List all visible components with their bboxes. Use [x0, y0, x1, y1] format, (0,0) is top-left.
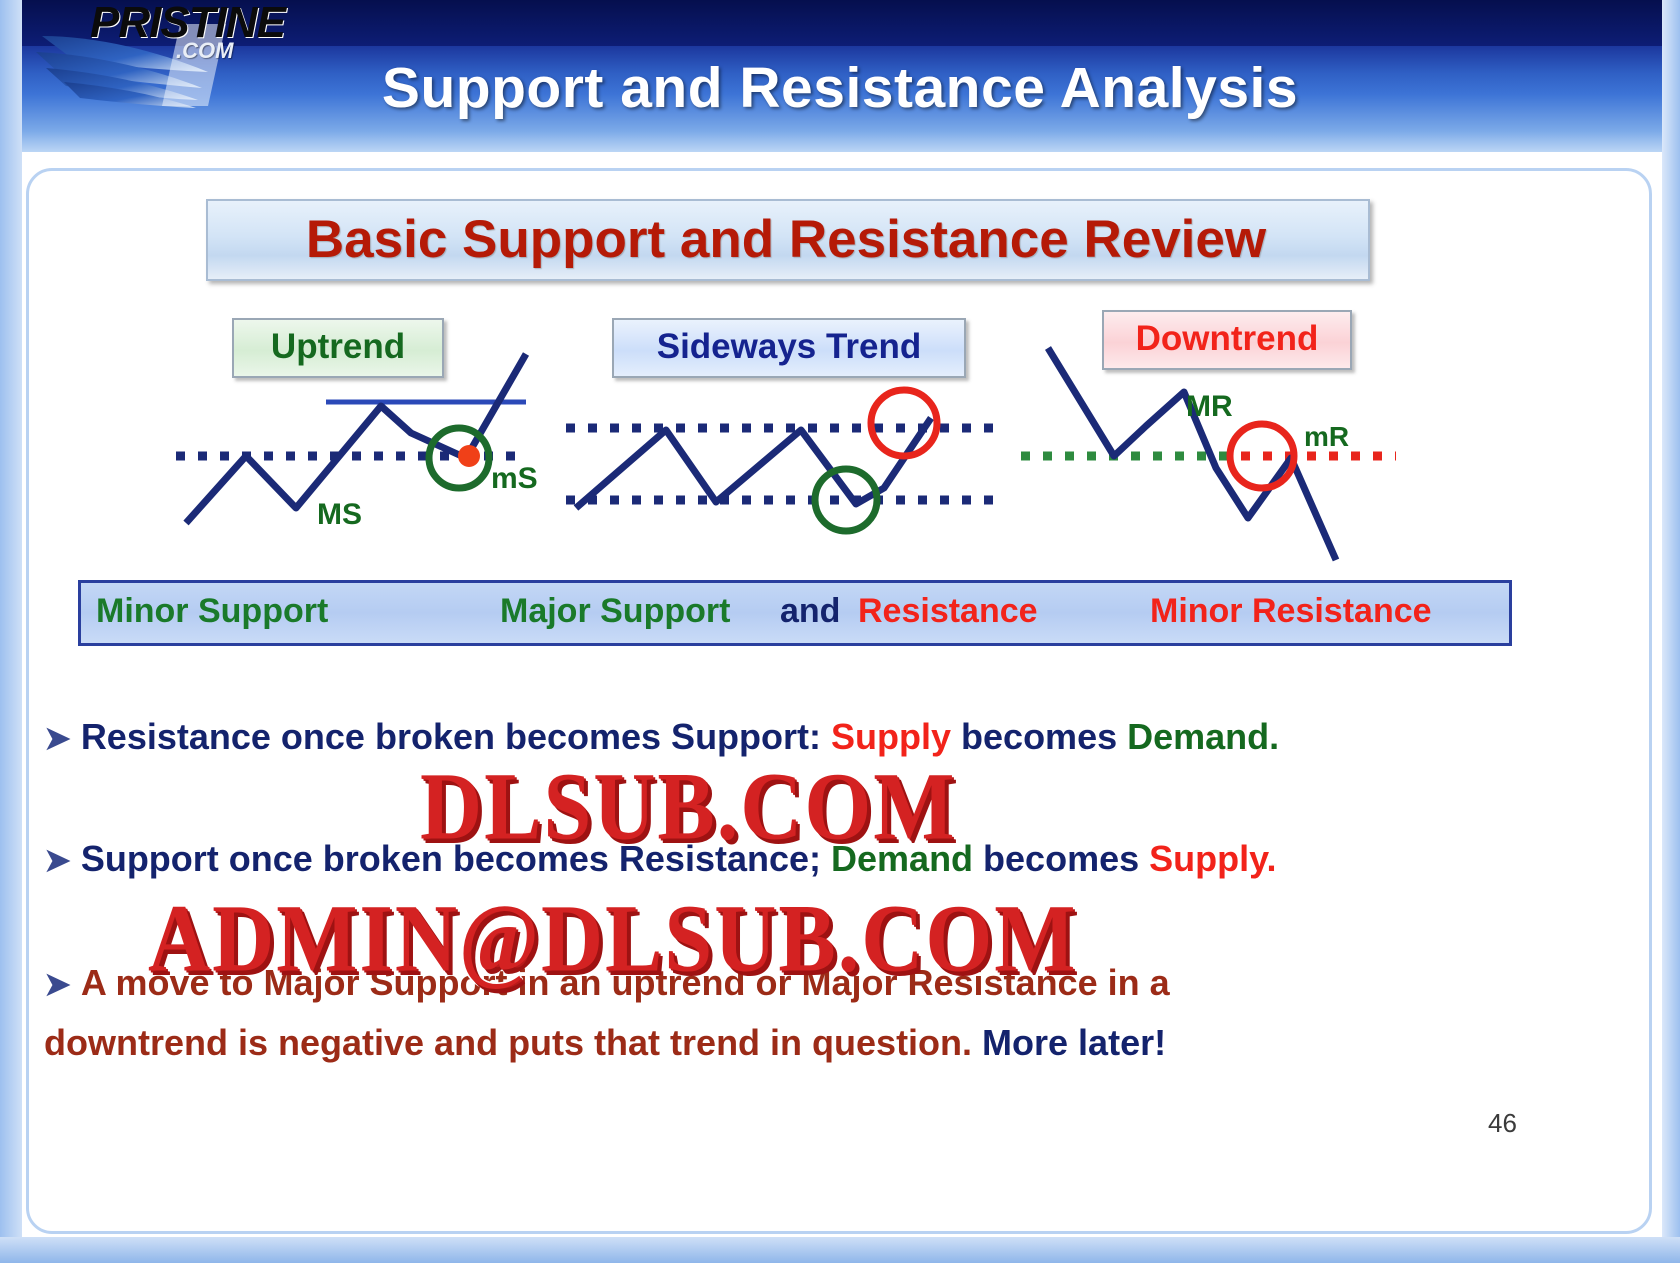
legend-and: and: [780, 592, 840, 631]
uptrend-minor-support-label: mS: [491, 462, 538, 495]
sideways-diagram: [566, 390, 996, 531]
downtrend-minor-resistance-marker: [1230, 424, 1294, 488]
pristine-logo: PRISTINE .COM: [30, 0, 350, 116]
slide-edge-right: [1662, 0, 1680, 1263]
bullet-3-line2: downtrend is negative and puts that tren…: [44, 1022, 1604, 1064]
bullet-arrow-icon: ➤: [44, 842, 71, 878]
slide-edge-bottom: [0, 1237, 1680, 1263]
downtrend-diagram: MR mR: [1021, 348, 1396, 560]
downtrend-minor-resistance-label: mR: [1304, 421, 1349, 452]
slide: Support and Resistance Analysis PRISTINE…: [0, 0, 1680, 1263]
uptrend-major-support-label: MS: [317, 498, 362, 531]
legend-major-support: Major Support: [500, 592, 730, 631]
watermark-site: DLSUB.COM: [420, 750, 956, 862]
legend-resistance: Resistance: [858, 592, 1038, 631]
bullet-1-demand: Demand.: [1127, 716, 1279, 757]
page-number: 46: [1488, 1108, 1517, 1139]
uptrend-diagram: MS mS: [176, 354, 538, 531]
uptrend-marker-dot: [458, 445, 480, 467]
legend-minor-resistance: Minor Resistance: [1150, 592, 1432, 631]
bullet-2-part2: becomes: [973, 838, 1149, 879]
slide-edge-left: [0, 0, 22, 1263]
logo-dotcom: .COM: [176, 38, 233, 64]
legend-minor-support: Minor Support: [96, 592, 328, 631]
bullet-3-more-later: More later!: [982, 1022, 1166, 1063]
trend-diagrams: MS mS MR mR: [26, 168, 1646, 638]
bullet-3-text-cont: downtrend is negative and puts that tren…: [44, 1022, 982, 1063]
bullet-1-part2: becomes: [951, 716, 1127, 757]
watermark-email: ADMIN@DLSUB.COM: [148, 882, 1077, 994]
bullet-arrow-icon: ➤: [44, 720, 71, 756]
downtrend-major-resistance-label: MR: [1186, 390, 1233, 423]
bullet-2-supply: Supply.: [1149, 838, 1276, 879]
bullet-arrow-icon: ➤: [44, 966, 71, 1002]
